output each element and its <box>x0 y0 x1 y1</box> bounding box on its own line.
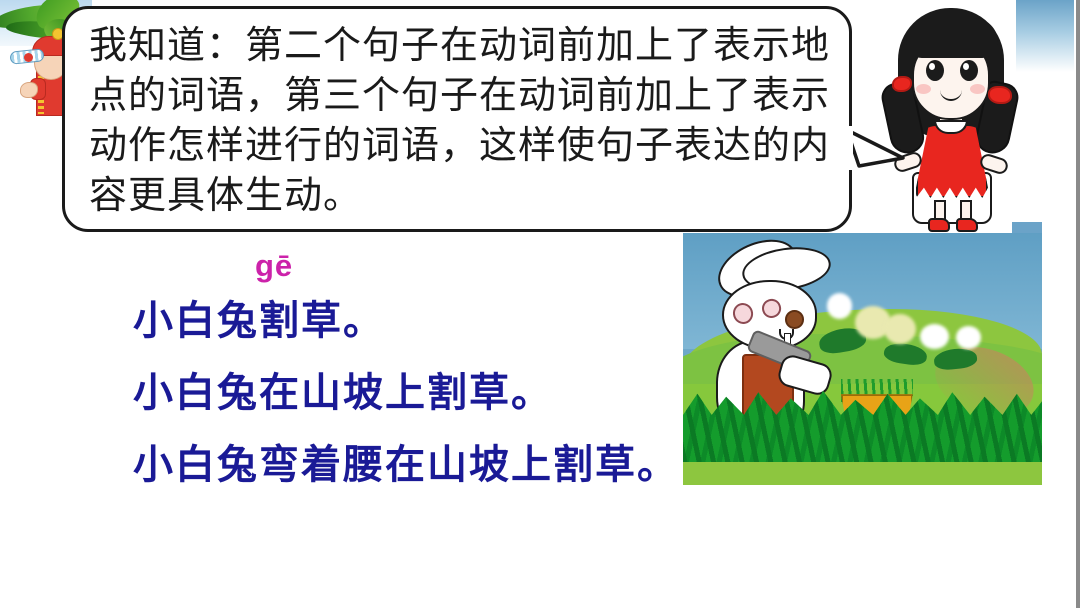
boy-hand <box>20 82 38 98</box>
rabbit-cutting-grass-image <box>683 233 1042 485</box>
girl-fringe <box>906 18 998 58</box>
speech-bubble-tail <box>845 120 907 182</box>
sentence-line-2: 小白兔在山坡上割草。 <box>133 360 553 418</box>
dandelion-puff <box>884 314 916 344</box>
pinyin-annotation: gē <box>255 248 293 284</box>
dandelion-puff <box>956 326 981 349</box>
boy-cap-dot <box>24 53 33 62</box>
slide-canvas: 我知道：第二个句子在动词前加上了表示地点的词语，第三个句子在动词前加上了表示动作… <box>0 0 1080 608</box>
speech-bubble-text: 我知道：第二个句子在动词前加上了表示地点的词语，第三个句子在动词前加上了表示动作… <box>89 21 831 221</box>
scene-foreground <box>683 462 1042 485</box>
girl-hair-bow-left <box>892 76 912 92</box>
speech-bubble: 我知道：第二个句子在动词前加上了表示地点的词语，第三个句子在动词前加上了表示动作… <box>62 6 852 232</box>
sentence-line-3: 小白兔弯着腰在山坡上割草。 <box>133 432 679 490</box>
rabbit-nose <box>785 310 804 329</box>
girl-shoe <box>928 218 950 232</box>
girl-eye-right <box>960 60 978 81</box>
girl-eye-highlight <box>963 63 969 70</box>
girl-cheek-left <box>916 84 931 94</box>
page-edge <box>1076 0 1080 608</box>
girl-hair-bow-right <box>988 86 1012 104</box>
girl-shoe <box>956 218 978 232</box>
girl-eye-left <box>926 60 944 81</box>
sentence-line-1: 小白兔割草。 <box>133 288 385 346</box>
girl-eye-highlight <box>929 63 935 70</box>
dandelion-puff <box>920 324 949 349</box>
girl-cheek-right <box>970 84 985 94</box>
girl-dress <box>916 124 988 198</box>
